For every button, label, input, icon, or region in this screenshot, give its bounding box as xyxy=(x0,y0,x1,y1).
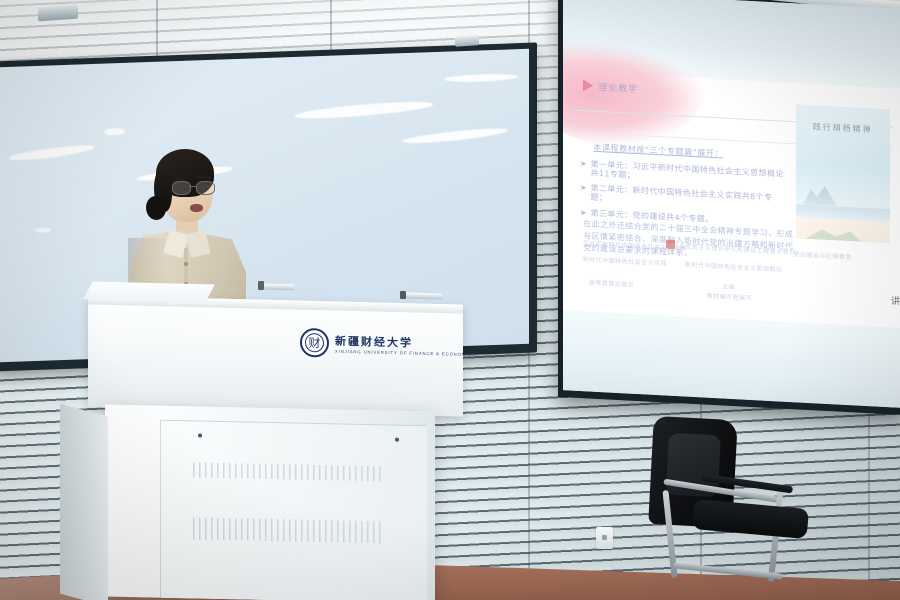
whiteboard-glare xyxy=(104,128,125,136)
panel-screw xyxy=(395,438,399,442)
artwork-mountain-shape xyxy=(803,183,837,206)
footer-text: 教材编写组编写 xyxy=(707,291,753,302)
artwork-hill-shape xyxy=(805,226,862,242)
seal-glyph: 财 xyxy=(308,337,320,349)
glasses-lens xyxy=(172,181,191,195)
university-name-block: 新疆财经大学 XINJIANG UNIVERSITY OF FINANCE & … xyxy=(335,333,476,357)
footer-text: 新时代中国特色社会主义实践 xyxy=(583,254,668,267)
bullet-text: 第二单元：新时代中国特色社会主义实践共8个专题； xyxy=(591,185,789,213)
footer-text: 党的建设与区情教育 xyxy=(793,249,852,261)
whiteboard-glare xyxy=(401,125,508,145)
chair-seat xyxy=(692,499,809,539)
footer-text: 马克思主义理论研究和建设工程重点教材 xyxy=(679,241,796,256)
shirt-collar-right xyxy=(185,230,210,258)
podium-university-logo: 财 新疆财经大学 XINJIANG UNIVERSITY OF FINANCE … xyxy=(300,328,476,361)
hair-bun xyxy=(146,196,166,220)
footer-text: 主编 xyxy=(722,281,735,291)
artwork-footer-band xyxy=(796,217,890,243)
podium-side-face xyxy=(60,404,108,600)
footer-text: 高等教育出版社 xyxy=(589,277,635,288)
glasses-lens xyxy=(196,181,215,195)
bullet-arrow-icon: ➤ xyxy=(580,160,587,168)
glasses-bridge xyxy=(189,186,196,187)
chair-leg-crossbar xyxy=(673,562,783,579)
bullet-arrow-icon: ➤ xyxy=(580,184,587,192)
artwork-caption: 践行胡杨精神 xyxy=(805,121,880,136)
desk-microphone-base xyxy=(258,281,264,290)
panel-screw xyxy=(198,434,202,438)
lecture-hall-photo: 理论教学 本课程教材按“三个专题篇”展开： ➤ 第一单元：习近平新时代中国特色社… xyxy=(0,0,900,600)
office-chair xyxy=(645,418,820,593)
slide-footer: 习近平新时代中国特色社会主义思想 新时代中国特色社会主义实践 高等教育出版社 马… xyxy=(576,232,886,320)
podium-front-panel xyxy=(160,420,427,600)
slide-artwork: 践行胡杨精神 xyxy=(796,105,890,244)
slide-lead-text: 本课程教材按“三个专题篇”展开： xyxy=(593,142,723,160)
wall-mount-bracket xyxy=(38,5,78,22)
desk-pointer-base xyxy=(400,291,406,299)
mouth xyxy=(190,204,203,212)
podium-vent-slots xyxy=(193,517,385,543)
footer-text: 新时代中国特色社会主义思想概论 xyxy=(685,260,783,274)
projection-screen: 理论教学 本课程教材按“三个专题篇”展开： ➤ 第一单元：习近平新时代中国特色社… xyxy=(558,0,900,415)
slide-header-title: 理论教学 xyxy=(598,80,638,95)
whiteboard-mount-bracket xyxy=(455,35,479,47)
whiteboard-glare xyxy=(35,228,51,234)
glasses-icon xyxy=(172,181,216,194)
edge-partial-text: 讲 xyxy=(884,296,898,305)
projection-screen-surface: 理论教学 本课程教材按“三个专题篇”展开： ➤ 第一单元：习近平新时代中国特色社… xyxy=(563,0,900,408)
whiteboard-glare xyxy=(295,99,433,122)
bullet-arrow-icon: ➤ xyxy=(580,209,587,217)
wall-outlet xyxy=(596,527,613,549)
play-triangle-icon xyxy=(583,80,593,93)
whiteboard-glare xyxy=(444,73,518,83)
desk-pointer xyxy=(404,293,442,300)
shirt-button xyxy=(184,262,188,266)
podium-slant-face xyxy=(83,282,215,303)
university-seal-icon: 财 xyxy=(300,328,329,358)
podium-body xyxy=(105,405,435,600)
desk-microphone xyxy=(262,284,294,291)
whiteboard-glare xyxy=(8,143,93,162)
podium-vent-slots xyxy=(193,462,385,481)
presentation-slide: 理论教学 本课程教材按“三个专题篇”展开： ➤ 第一单元：习近平新时代中国特色社… xyxy=(563,71,900,328)
